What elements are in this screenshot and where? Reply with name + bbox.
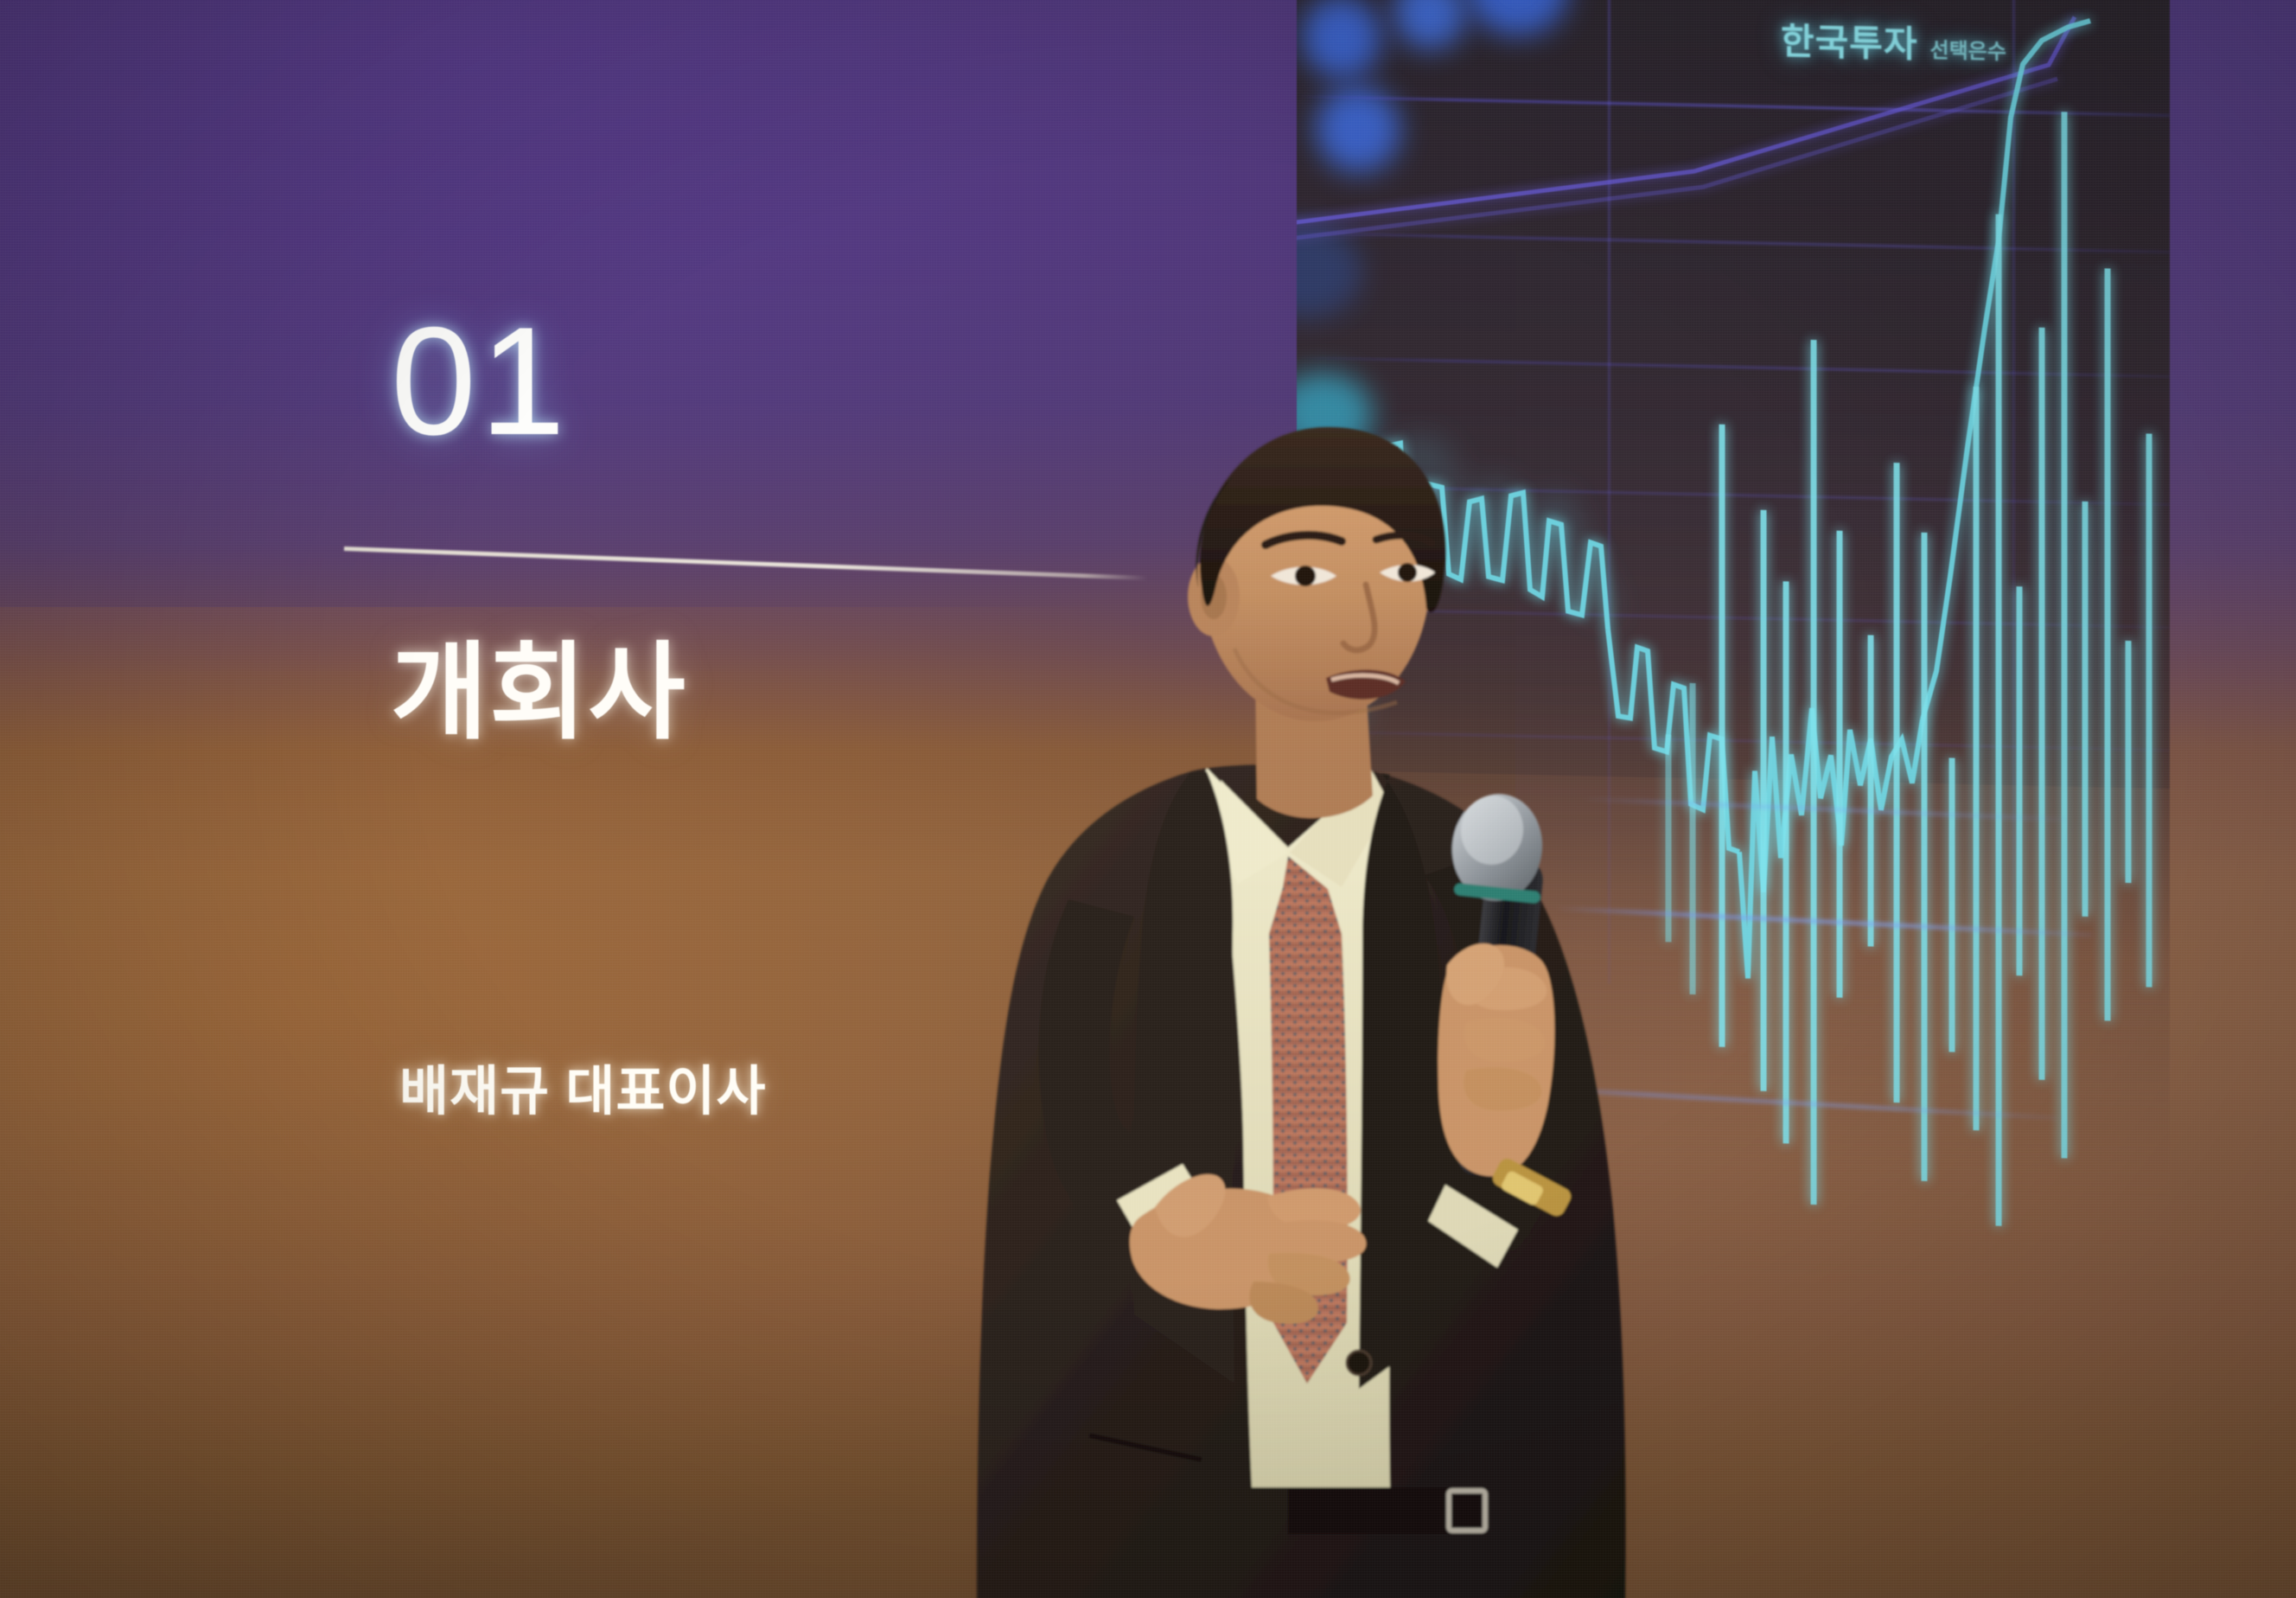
slide-section-number: 01 <box>391 304 569 458</box>
slide-title: 개회사 <box>391 640 687 745</box>
belt <box>1288 1487 1487 1534</box>
suit-button <box>1347 1351 1371 1375</box>
projection-label-main: 한국투자 <box>1781 21 1918 64</box>
screenshot-stage: 한국투자선택은수 01 개회사 배재규 대표이사 <box>0 0 2296 1598</box>
chart-volume-bars <box>1668 103 2149 1229</box>
projection-label-sub: 선택은수 <box>1930 39 2006 64</box>
speaker-figure <box>916 450 1694 1598</box>
slide-speaker-name: 배재규 대표이사 <box>399 1065 767 1119</box>
projection-label: 한국투자선택은수 <box>1781 12 2006 70</box>
